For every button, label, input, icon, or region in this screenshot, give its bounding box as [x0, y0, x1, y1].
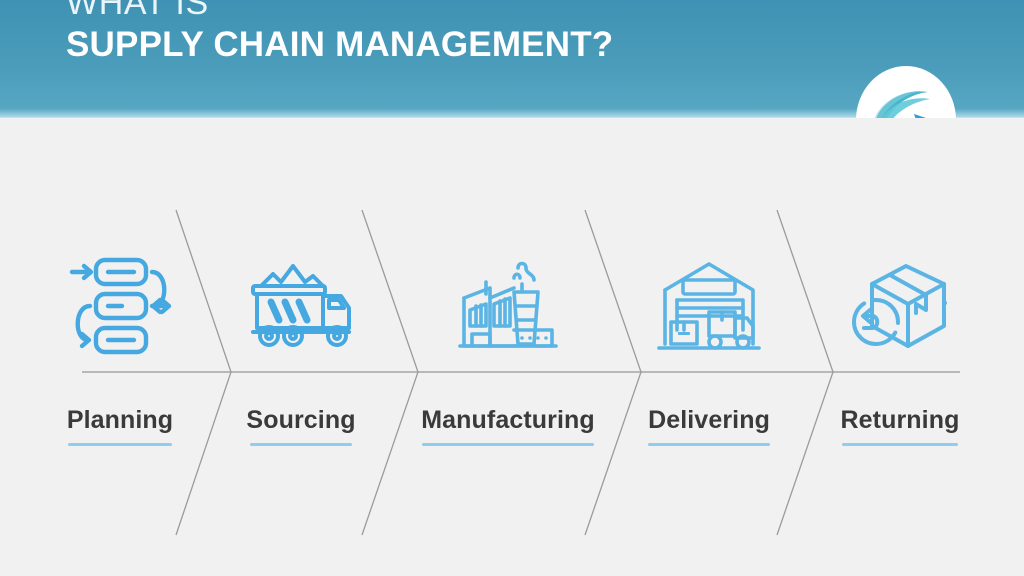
stage-label: Returning: [841, 406, 960, 435]
stage-underline: [842, 443, 958, 446]
stage-manufacturing-label-wrap: Manufacturing: [413, 406, 603, 446]
stage-underline: [648, 443, 770, 446]
header-eyebrow: WHAT IS: [66, 0, 613, 20]
header-title-block: WHAT IS SUPPLY CHAIN MANAGEMENT?: [66, 0, 613, 62]
stage-underline: [422, 443, 594, 446]
company-logo[interactable]: [856, 66, 956, 118]
stage-label: Planning: [67, 406, 173, 435]
stage-sourcing-label-wrap: Sourcing: [206, 406, 396, 446]
stage-delivering-label-wrap: Delivering: [614, 406, 804, 446]
page-title: SUPPLY CHAIN MANAGEMENT?: [66, 27, 613, 62]
stage-returning-label-wrap: Returning: [805, 406, 995, 446]
logo-swirl-icon: [860, 74, 952, 118]
factory-icon: [413, 246, 603, 366]
stage-underline: [250, 443, 352, 446]
dump-truck-icon: [206, 246, 396, 366]
stage-label: Sourcing: [246, 406, 355, 435]
supply-chain-diagram: Planning: [0, 118, 1024, 576]
stage-label: Delivering: [648, 406, 770, 435]
stage-underline: [68, 443, 172, 446]
stage-label: Manufacturing: [421, 406, 595, 435]
page-header: WHAT IS SUPPLY CHAIN MANAGEMENT?: [0, 0, 1024, 118]
stage-planning-label-wrap: Planning: [25, 406, 215, 446]
warehouse-icon: [614, 246, 804, 366]
process-flow-icon: [25, 246, 215, 366]
return-box-icon: [805, 246, 995, 366]
